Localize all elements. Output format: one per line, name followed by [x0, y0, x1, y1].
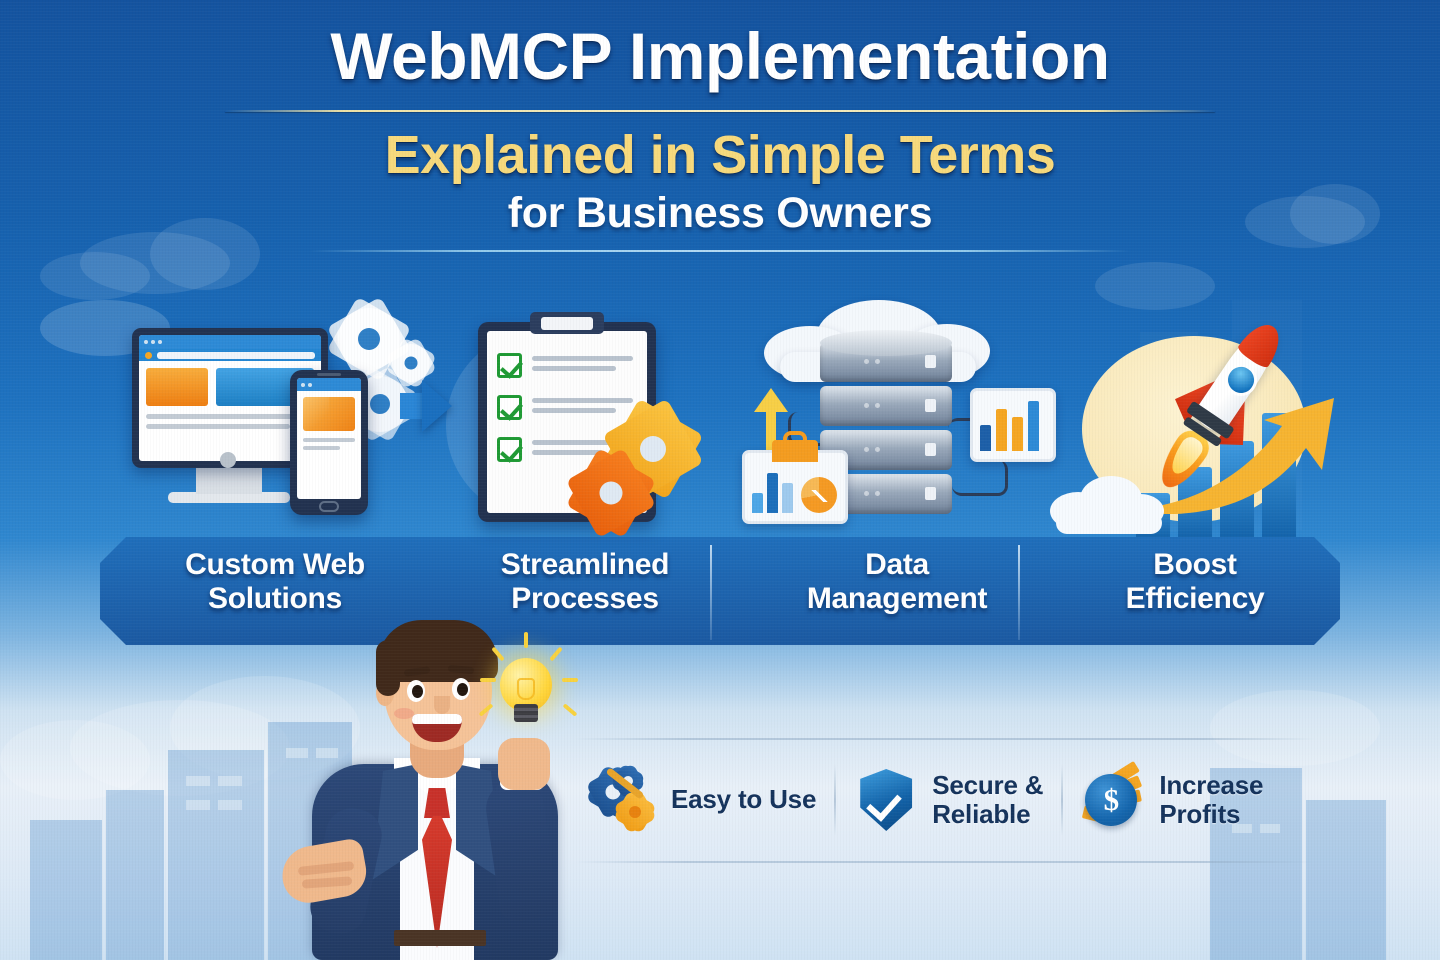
shield-check-icon	[854, 768, 918, 832]
arrow-right-icon	[422, 380, 452, 432]
check-icon	[497, 395, 522, 420]
benefit-label: Easy to Use	[671, 785, 816, 814]
envelope-icon	[303, 397, 355, 431]
benefit-item-secure-reliable[interactable]: Secure & Reliable	[836, 750, 1061, 850]
benefit-item-increase-profits[interactable]: $ Increase Profits	[1063, 750, 1281, 850]
pupil	[412, 685, 423, 698]
hair	[376, 640, 400, 696]
benefits-divider-bottom	[575, 861, 1315, 863]
feature-panel-boost-efficiency[interactable]: Boost Efficiency	[1040, 300, 1350, 645]
gear-icon	[578, 460, 644, 526]
cheek	[394, 708, 414, 719]
feature-panel-data-management[interactable]: Data Management	[742, 300, 1052, 645]
desktop-monitor-and-smartphone-icon	[120, 300, 430, 545]
title-divider-gold	[225, 110, 1215, 112]
checklist-item	[497, 353, 637, 378]
infographic-canvas: WebMCP Implementation Explained in Simpl…	[0, 0, 1440, 960]
page-subtitle-secondary: for Business Owners	[0, 190, 1440, 237]
feature-panel-custom-web-solutions[interactable]: Custom Web Solutions	[120, 300, 430, 645]
hand	[498, 738, 550, 790]
rocket-growth-chart-icon	[1040, 300, 1350, 545]
check-icon	[497, 437, 522, 462]
page-subtitle: Explained in Simple Terms	[0, 126, 1440, 184]
database-disk	[820, 386, 952, 426]
benefits-divider-top	[575, 738, 1315, 740]
benefits-strip: Easy to Use Secure & Reliable	[575, 738, 1315, 863]
dollar-coin-arrow-icon: $	[1081, 768, 1145, 832]
subtitle-divider-blue	[310, 250, 1130, 252]
header: WebMCP Implementation Explained in Simpl…	[0, 22, 1440, 252]
benefit-label: Secure & Reliable	[932, 771, 1043, 829]
cloud-database-server-icon	[742, 300, 1052, 545]
benefit-item-easy-to-use[interactable]: Easy to Use	[575, 750, 834, 850]
feature-panel-label: Custom Web Solutions	[120, 548, 430, 615]
feature-panel-label: Boost Efficiency	[1040, 548, 1350, 615]
smoke-cloud	[1050, 472, 1170, 534]
pie-chart-icon	[801, 477, 837, 513]
smartphone	[290, 370, 368, 515]
arrow-up-icon	[754, 388, 788, 412]
feature-panel-label: Streamlined Processes	[430, 548, 740, 615]
dollar-coin: $	[1085, 774, 1137, 826]
smiling-businessman-with-lightbulb	[276, 612, 616, 960]
monitor-stand	[196, 468, 262, 494]
nose	[434, 696, 450, 714]
check-icon	[497, 353, 522, 378]
monitor-power-knob	[220, 452, 236, 468]
card-clip	[772, 440, 818, 462]
feature-panel-label: Data Management	[742, 548, 1052, 615]
belt	[394, 930, 486, 946]
benefit-label: Increase Profits	[1159, 771, 1263, 829]
gears-wrench-icon	[593, 768, 657, 832]
page-title: WebMCP Implementation	[0, 22, 1440, 92]
clipboard-clip	[541, 317, 593, 330]
clipboard-checklist-gears-icon	[430, 300, 740, 545]
light-rays	[476, 636, 580, 732]
phone-speaker	[317, 373, 341, 376]
feature-panel-streamlined-processes[interactable]: Streamlined Processes	[430, 300, 740, 645]
pupil	[457, 683, 468, 696]
connector-wire	[952, 460, 1008, 496]
phone-home-button	[319, 501, 339, 512]
